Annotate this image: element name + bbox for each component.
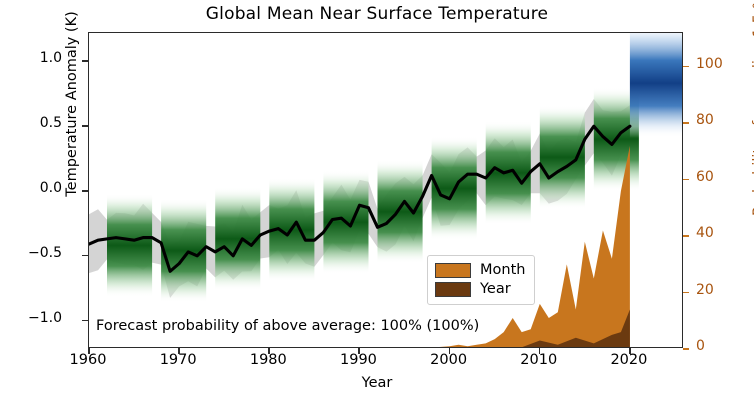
y-tick-mark-right (683, 292, 689, 294)
x-tick-mark (358, 348, 360, 354)
x-tick-mark (88, 348, 90, 354)
y-tick-label-right: 80 (696, 112, 754, 128)
legend-label-month: Month (480, 263, 525, 278)
climate-forecast-chart: Global Mean Near Surface Temperature Tem… (0, 0, 754, 402)
x-axis-label: Year (0, 375, 754, 391)
y-tick-label-right: 40 (696, 225, 754, 241)
legend-swatch-year (435, 282, 471, 297)
y-tick-label-left: 1.0 (2, 50, 62, 66)
forecast-probability-annotation: Forecast probability of above average: 1… (96, 318, 479, 334)
y-tick-label-left: −0.5 (2, 245, 62, 261)
density-patch (630, 33, 683, 138)
y-tick-label-right: 100 (696, 56, 754, 72)
y-tick-mark-right (683, 122, 689, 124)
y-tick-label-right: 0 (696, 338, 754, 354)
x-tick-label: 2000 (417, 352, 481, 368)
forecast-density-group (630, 33, 683, 138)
legend-item-month[interactable]: Month (435, 261, 525, 280)
y-tick-label-right: 60 (696, 169, 754, 185)
legend-swatch-month (435, 263, 471, 278)
plot-canvas (89, 33, 683, 348)
x-tick-label: 1990 (326, 352, 390, 368)
x-tick-mark (629, 348, 631, 354)
y-tick-mark-right (683, 66, 689, 68)
x-tick-label: 1960 (56, 352, 120, 368)
y-tick-label-left: 0.5 (2, 115, 62, 131)
x-tick-mark (449, 348, 451, 354)
x-tick-label: 1970 (146, 352, 210, 368)
y-tick-mark-right (683, 348, 689, 350)
x-tick-label: 2010 (507, 352, 571, 368)
y-tick-label-right: 20 (696, 282, 754, 298)
x-tick-label: 2020 (597, 352, 661, 368)
y-tick-label-left: 0.0 (2, 180, 62, 196)
density-patch (215, 187, 260, 291)
legend-item-year[interactable]: Year (435, 280, 525, 299)
density-patch (107, 194, 152, 298)
x-tick-mark (268, 348, 270, 354)
page-title: Global Mean Near Surface Temperature (0, 4, 754, 24)
legend-label-year: Year (480, 282, 511, 297)
x-tick-mark (178, 348, 180, 354)
x-tick-mark (539, 348, 541, 354)
y-tick-label-left: −1.0 (2, 310, 62, 326)
hindcast-density-group (107, 87, 639, 302)
x-tick-label: 1980 (236, 352, 300, 368)
y-axis-label-left: Temperature Anomaly (K) (64, 0, 80, 224)
legend[interactable]: Month Year (427, 255, 535, 305)
plot-area (88, 32, 683, 348)
y-tick-mark-right (683, 179, 689, 181)
density-patch (161, 199, 206, 303)
y-tick-mark-right (683, 235, 689, 237)
